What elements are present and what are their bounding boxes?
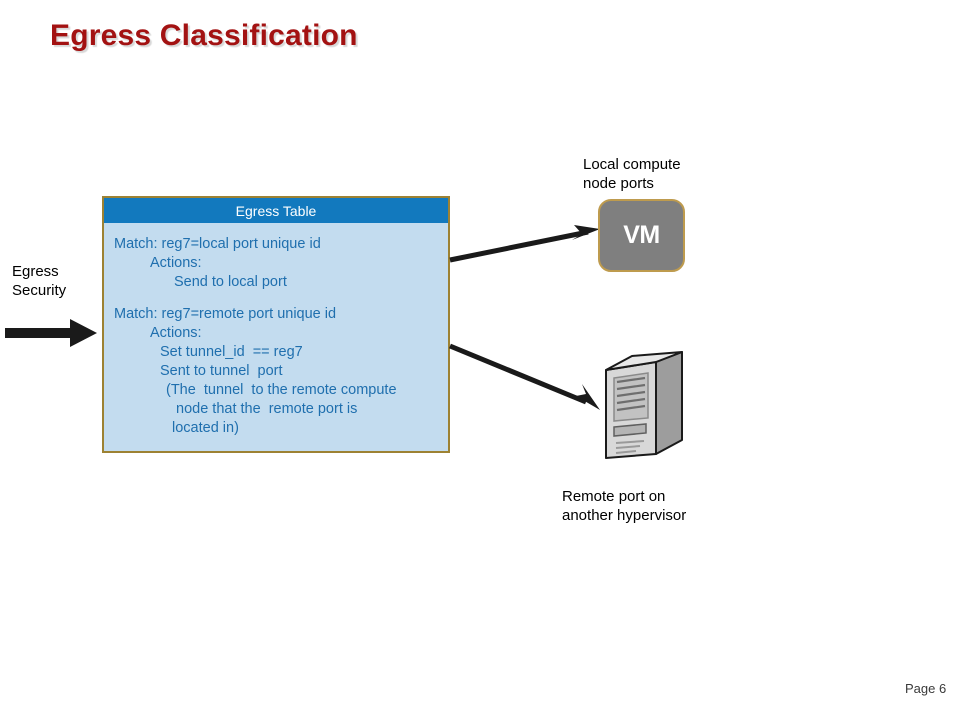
arrow-to-vm [448,222,608,272]
slide-canvas: Egress Classification Egress Security Eg… [0,0,960,720]
server-tower-icon [596,348,690,460]
page-title: Egress Classification [50,19,358,53]
rule-action: Set tunnel_id == reg7 [114,343,448,362]
remote-port-caption: Remote port on another hypervisor [562,487,686,525]
egress-security-arrow [2,316,100,350]
rule-action: Send to local port [114,273,448,292]
rule-action-note: node that the remote port is [114,400,448,419]
rule-match: Match: reg7=local port unique id [114,235,448,254]
rule-action: Sent to tunnel port [114,362,448,381]
rule-action-note: (The tunnel to the remote compute [114,381,448,400]
rule-entry: Match: reg7=local port unique id Actions… [114,235,448,292]
egress-table: Egress Table Match: reg7=local port uniq… [102,196,450,453]
rule-action-note: located in) [114,419,448,438]
rule-match: Match: reg7=remote port unique id [114,305,448,324]
vm-label: VM [623,221,660,250]
arrow-to-server [448,340,610,416]
rule-actions-label: Actions: [114,254,448,273]
page-number: Page 6 [905,681,946,696]
rule-entry: Match: reg7=remote port unique id Action… [114,305,448,438]
vm-node: VM [598,199,685,272]
egress-table-header-label: Egress Table [236,203,317,219]
egress-table-header: Egress Table [104,198,448,223]
egress-security-label: Egress Security [12,262,66,300]
local-compute-caption: Local compute node ports [583,155,681,193]
rule-actions-label: Actions: [114,324,448,343]
egress-table-body: Match: reg7=local port unique id Actions… [104,223,448,438]
